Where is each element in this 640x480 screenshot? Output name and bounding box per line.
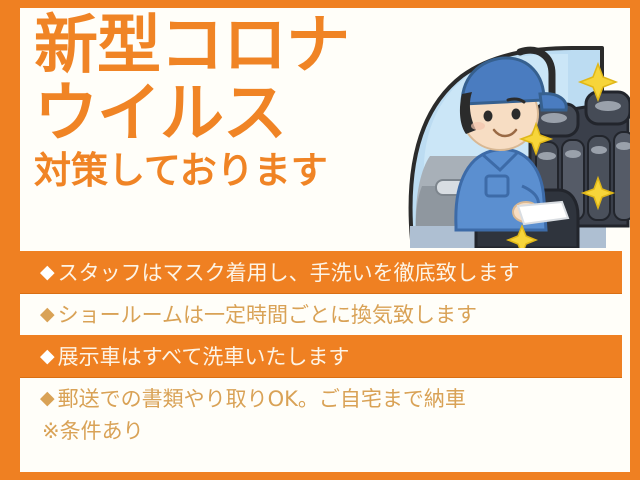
poster-frame: 新型コロナ ウイルス 対策しております xyxy=(0,0,640,480)
headline-line-3: 対策しております xyxy=(34,152,454,189)
diamond-bullet-icon: ◆ xyxy=(40,387,55,409)
list-item-label: スタッフはマスク着用し、手洗いを徹底致します xyxy=(58,257,520,287)
list-item: ◆ 郵送での書類やり取りOK。ご自宅まで納車 xyxy=(20,377,630,419)
diamond-bullet-icon: ◆ xyxy=(40,261,55,283)
headline-group: 新型コロナ ウイルス 対策しております xyxy=(34,14,454,189)
measures-list: ◆ スタッフはマスク着用し、手洗いを徹底致します ◆ ショールームは一定時間ごと… xyxy=(20,251,630,445)
diamond-bullet-icon: ◆ xyxy=(40,303,55,325)
list-item: ◆ スタッフはマスク着用し、手洗いを徹底致します xyxy=(20,251,622,293)
diamond-bullet-icon: ◆ xyxy=(40,345,55,367)
list-item: ◆ ショールームは一定時間ごとに換気致します xyxy=(20,293,630,335)
condition-note: ※条件あり xyxy=(20,415,630,445)
headline-line-1: 新型コロナ xyxy=(34,14,454,78)
list-item-label: 郵送での書類やり取りOK。ご自宅まで納車 xyxy=(58,383,466,413)
list-item: ◆ 展示車はすべて洗車いたします xyxy=(20,335,622,377)
poster-body: 新型コロナ ウイルス 対策しております xyxy=(20,8,630,472)
list-item-label: 展示車はすべて洗車いたします xyxy=(58,341,350,371)
list-item-label: ショールームは一定時間ごとに換気致します xyxy=(58,299,477,329)
headline-line-2: ウイルス xyxy=(34,82,454,146)
